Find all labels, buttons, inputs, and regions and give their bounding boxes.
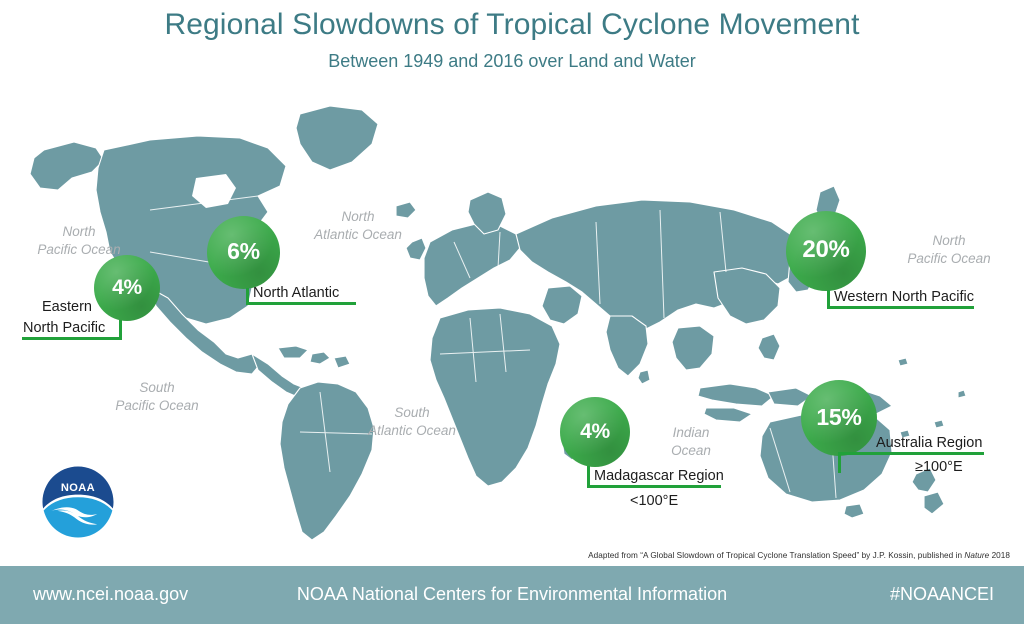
leader-underline-north-atlantic xyxy=(246,302,356,305)
leader-underline-eastern-north-pacific xyxy=(22,337,122,340)
world-map-graphic xyxy=(0,92,1024,552)
leader-underline-madagascar-region xyxy=(587,485,721,488)
region-label-eastern-north-pacific-line2: North Pacific xyxy=(23,321,105,336)
bubble-western-north-pacific[interactable]: 20% xyxy=(786,211,866,291)
region-sublabel-australia-region: ≥100°E xyxy=(915,460,963,475)
footer-bar: www.ncei.noaa.gov NOAA National Centers … xyxy=(0,566,1024,624)
attribution-journal: Nature xyxy=(964,551,989,560)
region-label-north-atlantic: North Atlantic xyxy=(253,286,339,301)
bubble-australia-region[interactable]: 15% xyxy=(801,380,877,456)
footer-hashtag[interactable]: #NOAANCEI xyxy=(890,584,994,605)
region-label-australia-region: Australia Region xyxy=(876,436,982,451)
footer-organization-name: NOAA National Centers for Environmental … xyxy=(0,584,1024,605)
region-label-madagascar-region: Madagascar Region xyxy=(594,469,724,484)
noaa-logo: NOAA xyxy=(41,465,115,539)
page-subtitle: Between 1949 and 2016 over Land and Wate… xyxy=(0,44,1024,73)
region-label-western-north-pacific: Western North Pacific xyxy=(834,290,974,305)
region-label-eastern-north-pacific-line1: Eastern xyxy=(42,300,92,315)
page-title: Regional Slowdowns of Tropical Cyclone M… xyxy=(0,0,1024,44)
bubble-madagascar-region[interactable]: 4% xyxy=(560,397,630,467)
bubble-north-atlantic[interactable]: 6% xyxy=(207,216,280,289)
world-map-container: North Pacific Ocean North Atlantic Ocean… xyxy=(0,92,1024,552)
attribution-prefix: Adapted from “A Global Slowdown of Tropi… xyxy=(588,551,964,560)
leader-underline-western-north-pacific xyxy=(827,306,974,309)
attribution-text: Adapted from “A Global Slowdown of Tropi… xyxy=(588,551,1010,560)
bubble-eastern-north-pacific[interactable]: 4% xyxy=(94,255,160,321)
header: Regional Slowdowns of Tropical Cyclone M… xyxy=(0,0,1024,92)
leader-underline-australia-region xyxy=(838,452,984,455)
noaa-logo-text: NOAA xyxy=(61,482,95,494)
leader-stem-australia-region xyxy=(838,455,841,473)
region-sublabel-madagascar-region: <100°E xyxy=(630,494,678,509)
attribution-suffix: 2018 xyxy=(989,551,1010,560)
